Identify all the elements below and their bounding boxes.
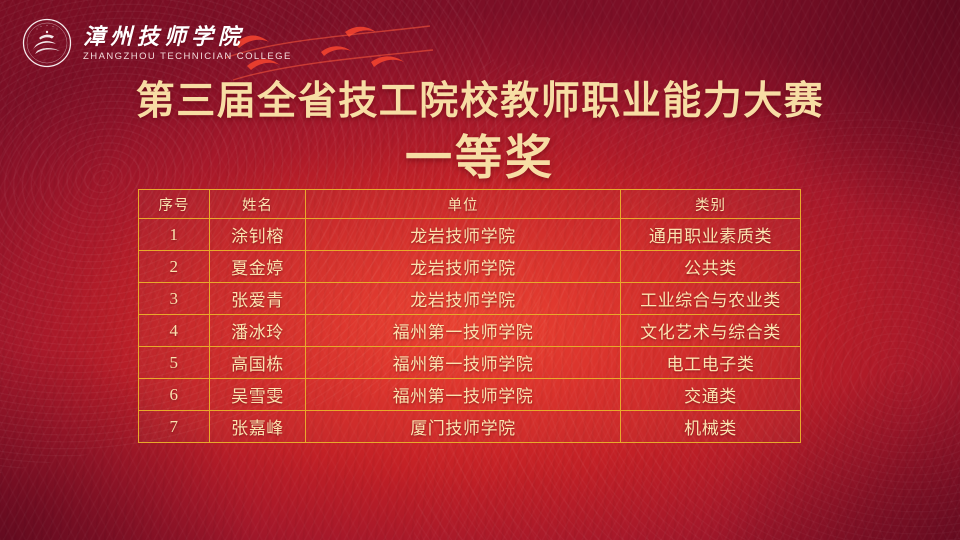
cell-index: 4 bbox=[139, 315, 210, 347]
column-header-category: 类别 bbox=[621, 190, 801, 219]
cell-category: 公共类 bbox=[621, 251, 801, 283]
cell-org: 福州第一技师学院 bbox=[306, 315, 621, 347]
column-header-name: 姓名 bbox=[210, 190, 306, 219]
cell-index: 7 bbox=[139, 411, 210, 443]
cell-category: 通用职业素质类 bbox=[621, 219, 801, 251]
cell-name: 夏金婷 bbox=[210, 251, 306, 283]
college-seal-emblem bbox=[22, 18, 72, 68]
cell-org: 龙岩技师学院 bbox=[306, 251, 621, 283]
cell-org: 龙岩技师学院 bbox=[306, 283, 621, 315]
college-logo: 漳州技师学院 ZHANGZHOU TECHNICIAN COLLEGE bbox=[22, 18, 292, 68]
cell-index: 3 bbox=[139, 283, 210, 315]
cell-category: 电工电子类 bbox=[621, 347, 801, 379]
cell-name: 张爱青 bbox=[210, 283, 306, 315]
table-row: 2夏金婷龙岩技师学院公共类 bbox=[139, 251, 801, 283]
cell-category: 文化艺术与综合类 bbox=[621, 315, 801, 347]
table-row: 4潘冰玲福州第一技师学院文化艺术与综合类 bbox=[139, 315, 801, 347]
title-block: 第三届全省技工院校教师职业能力大赛 一等奖 bbox=[0, 82, 960, 181]
cell-category: 机械类 bbox=[621, 411, 801, 443]
cell-org: 福州第一技师学院 bbox=[306, 347, 621, 379]
cell-name: 吴雪雯 bbox=[210, 379, 306, 411]
cell-name: 潘冰玲 bbox=[210, 315, 306, 347]
award-level-title: 一等奖 bbox=[0, 134, 960, 181]
table-header-row: 序号 姓名 单位 类别 bbox=[139, 190, 801, 219]
table-row: 3张爱青龙岩技师学院工业综合与农业类 bbox=[139, 283, 801, 315]
cell-index: 1 bbox=[139, 219, 210, 251]
award-table-body: 1涂钊榕龙岩技师学院通用职业素质类2夏金婷龙岩技师学院公共类3张爱青龙岩技师学院… bbox=[139, 219, 801, 443]
page-title: 第三届全省技工院校教师职业能力大赛 bbox=[0, 82, 960, 121]
cell-index: 5 bbox=[139, 347, 210, 379]
table-row: 7张嘉峰厦门技师学院机械类 bbox=[139, 411, 801, 443]
column-header-index: 序号 bbox=[139, 190, 210, 219]
cell-index: 6 bbox=[139, 379, 210, 411]
cell-category: 工业综合与农业类 bbox=[621, 283, 801, 315]
award-table: 序号 姓名 单位 类别 1涂钊榕龙岩技师学院通用职业素质类2夏金婷龙岩技师学院公… bbox=[138, 189, 801, 443]
slide-background: 漳州技师学院 ZHANGZHOU TECHNICIAN COLLEGE 第三届全… bbox=[0, 0, 960, 540]
cell-index: 2 bbox=[139, 251, 210, 283]
award-table-container: 序号 姓名 单位 类别 1涂钊榕龙岩技师学院通用职业素质类2夏金婷龙岩技师学院公… bbox=[138, 189, 800, 443]
column-header-org: 单位 bbox=[306, 190, 621, 219]
cell-org: 龙岩技师学院 bbox=[306, 219, 621, 251]
college-name-en: ZHANGZHOU TECHNICIAN COLLEGE bbox=[83, 52, 292, 62]
cell-org: 福州第一技师学院 bbox=[306, 379, 621, 411]
table-row: 6吴雪雯福州第一技师学院交通类 bbox=[139, 379, 801, 411]
college-name-cn: 漳州技师学院 bbox=[83, 24, 292, 49]
cell-name: 张嘉峰 bbox=[210, 411, 306, 443]
table-row: 1涂钊榕龙岩技师学院通用职业素质类 bbox=[139, 219, 801, 251]
cell-category: 交通类 bbox=[621, 379, 801, 411]
cell-name: 高国栋 bbox=[210, 347, 306, 379]
cell-name: 涂钊榕 bbox=[210, 219, 306, 251]
cell-org: 厦门技师学院 bbox=[306, 411, 621, 443]
table-row: 5高国栋福州第一技师学院电工电子类 bbox=[139, 347, 801, 379]
